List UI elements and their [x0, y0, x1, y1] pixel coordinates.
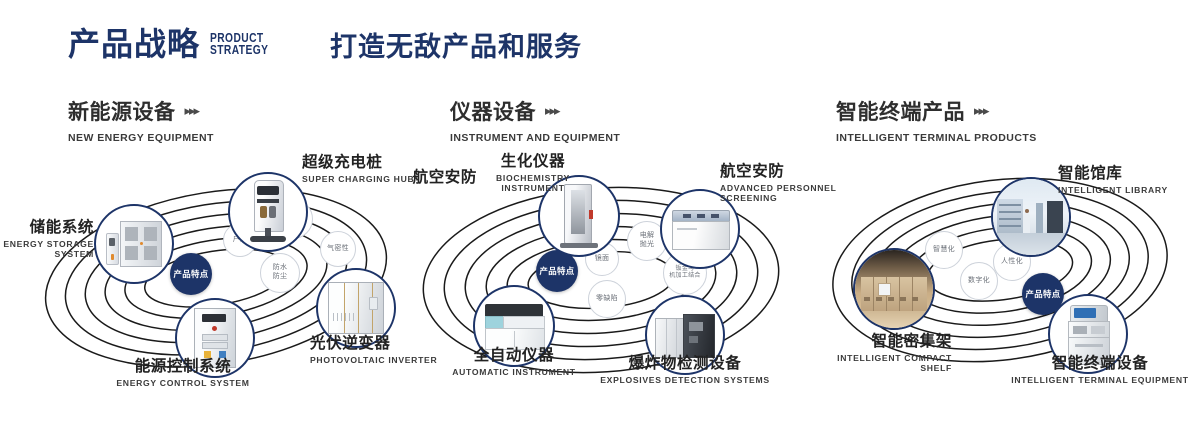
feature-bubble-label-digital: 数字化 [968, 277, 990, 286]
section-title-text-1: 仪器设备 [450, 96, 536, 126]
page-title-en: PRODUCT STRATEGY [210, 32, 268, 56]
feature-bubble-label-smart: 智慧化 [933, 246, 955, 255]
feature-center-label-1: 产品特点 [539, 266, 574, 277]
feature-bubble-label-electropolish-1: 电解 [640, 232, 655, 241]
node-intelligent-compact-shelf[interactable] [853, 248, 935, 330]
node-label-intelligent-library: 智能馆库 INTELLIGENT LIBRARY [1058, 165, 1200, 195]
section-header-intelligent: 智能终端产品 ▸▸▸ INTELLIGENT TERMINAL PRODUCTS [836, 96, 1037, 144]
section-title-en-0: NEW ENERGY EQUIPMENT [68, 132, 214, 144]
page-title-en-line2: STRATEGY [210, 44, 268, 56]
feature-bubble-label-electropolish-2: 抛光 [640, 241, 655, 250]
cluster-instrument: 产品特点 镜面 电解 抛光 零缺陷 钣金与 机加工结合 [405, 155, 805, 415]
section-header-new-energy: 新能源设备 ▸▸▸ NEW ENERGY EQUIPMENT [68, 96, 214, 144]
section-title-cn-0: 新能源设备 ▸▸▸ [68, 96, 214, 126]
section-title-text-0: 新能源设备 [68, 96, 176, 126]
chevron-right-icon-0: ▸▸▸ [185, 103, 199, 119]
node-label-automatic-instrument: 全自动仪器 AUTOMATIC INSTRUMENT [429, 347, 599, 377]
poster-canvas: 产品战略 PRODUCT STRATEGY 打造无敌产品和服务 新能源设备 ▸▸… [0, 0, 1200, 422]
feature-center-label-0: 产品特点 [173, 269, 208, 280]
compact-shelf-image [855, 250, 933, 328]
feature-bubble-label-waterproof-1: 防水 [273, 264, 288, 273]
node-label-en-intelligent-terminal-equipment: INTELLIGENT TERMINAL EQUIPMENT [1010, 375, 1190, 385]
node-label-en-intelligent-compact-shelf: INTELLIGENT COMPACT SHELF [792, 353, 952, 373]
section-title-en-2: INTELLIGENT TERMINAL PRODUCTS [836, 132, 1037, 144]
feature-bubble-digital: 数字化 [960, 262, 998, 300]
node-energy-storage[interactable] [94, 204, 174, 284]
node-label-intelligent-compact-shelf: 智能密集架 INTELLIGENT COMPACT SHELF [792, 333, 952, 374]
node-label-en-intelligent-library: INTELLIGENT LIBRARY [1058, 185, 1200, 195]
node-label-cn-energy-control-system: 能源控制系统 [78, 358, 288, 376]
node-label-cn-intelligent-terminal-equipment: 智能终端设备 [1010, 355, 1190, 373]
node-label-aviation-security-left: 航空安防 [357, 169, 477, 187]
node-label-cn-automatic-instrument: 全自动仪器 [429, 347, 599, 365]
node-label-en-energy-control-system: ENERGY CONTROL SYSTEM [78, 378, 288, 388]
node-label-en-energy-storage: ENERGY STORAGE SYSTEM [0, 239, 94, 259]
feature-bubble-label-airtight: 气密性 [327, 245, 349, 254]
feature-bubble-label-waterproof-2: 防尘 [273, 273, 288, 282]
section-title-en-1: INSTRUMENT AND EQUIPMENT [450, 132, 620, 144]
node-label-cn-biochemistry-instrument: 生化仪器 [473, 153, 593, 171]
feature-center-new-energy: 产品特点 [170, 253, 212, 295]
node-label-en-biochemistry-instrument: BIOCHEMISTRY INSTRUMENT [473, 173, 593, 193]
feature-bubble-label-mirror: 镜面 [595, 255, 610, 264]
feature-bubble-label-humanized: 人性化 [1001, 258, 1023, 267]
node-label-cn-intelligent-library: 智能馆库 [1058, 165, 1200, 183]
section-title-cn-1: 仪器设备 ▸▸▸ [450, 96, 620, 126]
chevron-right-icon-1: ▸▸▸ [545, 103, 559, 119]
section-header-instrument: 仪器设备 ▸▸▸ INSTRUMENT AND EQUIPMENT [450, 96, 620, 144]
feature-bubble-zero-defect: 零缺陷 [588, 280, 626, 318]
feature-bubble-label-zero-defect: 零缺陷 [596, 295, 618, 304]
node-label-explosives-detection: 爆炸物检测设备 EXPLOSIVES DETECTION SYSTEMS [600, 355, 770, 385]
cluster-intelligent-terminal: 智慧化 数字化 人性化 产品特点 智能馆库 INTELLIGENT LIBRAR… [800, 155, 1200, 415]
energy-storage-cabinet-image [96, 206, 172, 282]
feature-bubble-waterproof: 防水 防尘 [260, 253, 300, 293]
node-label-en-automatic-instrument: AUTOMATIC INSTRUMENT [429, 367, 599, 377]
node-label-biochemistry-instrument: 生化仪器 BIOCHEMISTRY INSTRUMENT [473, 153, 593, 194]
page-title-cn: 产品战略 [68, 28, 200, 60]
node-label-cn-energy-storage: 储能系统 [0, 219, 94, 237]
charging-pile-image [230, 174, 306, 250]
node-label-cn-explosives-detection: 爆炸物检测设备 [600, 355, 770, 373]
cluster-new-energy: 产品特点 户外 防腐 防锈 防水 防尘 气密性 [20, 155, 420, 415]
node-label-energy-storage: 储能系统 ENERGY STORAGE SYSTEM [0, 219, 94, 260]
node-label-energy-control-system: 能源控制系统 ENERGY CONTROL SYSTEM [78, 358, 288, 388]
chevron-right-icon-2: ▸▸▸ [974, 103, 988, 119]
node-super-charging-hub[interactable] [228, 172, 308, 252]
feature-bubble-airtight: 气密性 [320, 231, 356, 267]
page-subtitle: 打造无敌产品和服务 [330, 31, 582, 63]
node-label-intelligent-terminal-equipment: 智能终端设备 INTELLIGENT TERMINAL EQUIPMENT [1010, 355, 1190, 385]
page-title: 产品战略 PRODUCT STRATEGY [68, 28, 281, 60]
feature-bubble-label-sheetmetal-2: 机加工结合 [669, 273, 701, 281]
node-label-en-explosives-detection: EXPLOSIVES DETECTION SYSTEMS [600, 375, 770, 385]
section-title-text-2: 智能终端产品 [836, 96, 965, 126]
section-title-cn-2: 智能终端产品 ▸▸▸ [836, 96, 1037, 126]
node-label-cn-intelligent-compact-shelf: 智能密集架 [792, 333, 952, 351]
node-label-cn-aviation-security-left: 航空安防 [357, 169, 477, 187]
